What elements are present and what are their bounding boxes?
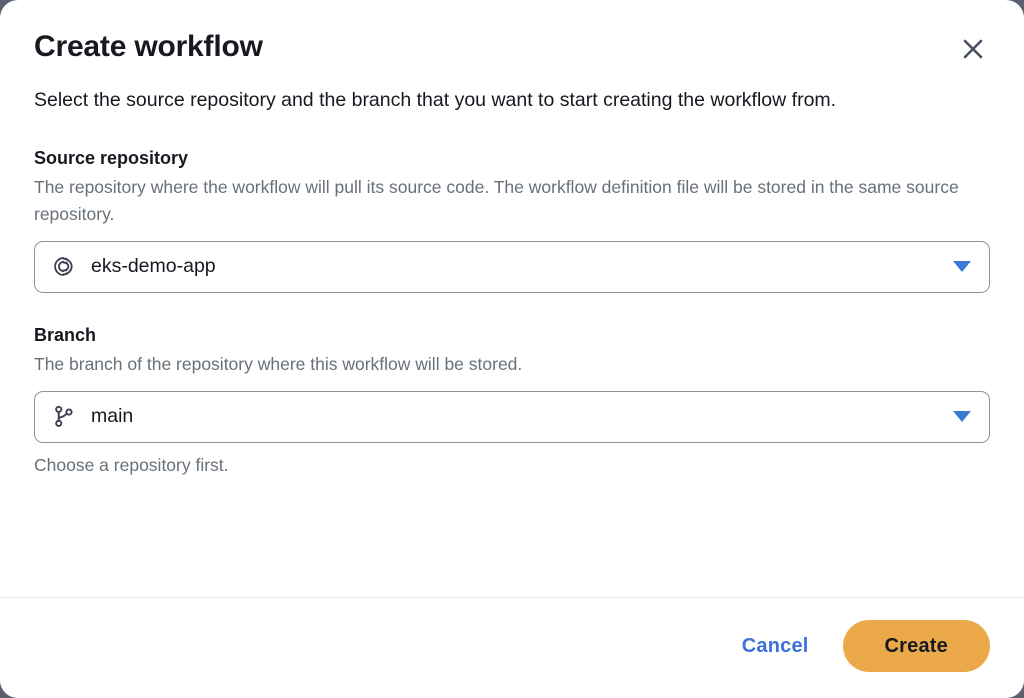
dialog-intro-text: Select the source repository and the bra… xyxy=(34,85,914,117)
dialog-header: Create workflow xyxy=(0,0,1024,63)
branch-label: Branch xyxy=(34,323,990,347)
branch-select[interactable]: main xyxy=(34,391,990,443)
dialog-footer: Cancel Create xyxy=(0,597,1024,698)
chevron-down-icon xyxy=(951,256,973,278)
git-branch-icon xyxy=(51,404,77,430)
source-repository-select[interactable]: eks-demo-app xyxy=(34,241,990,293)
chevron-down-icon xyxy=(951,406,973,428)
source-repository-field-group: Source repository The repository where t… xyxy=(34,146,990,293)
page-title: Create workflow xyxy=(34,30,990,63)
cancel-button[interactable]: Cancel xyxy=(730,627,821,666)
create-button[interactable]: Create xyxy=(843,620,990,672)
branch-value: main xyxy=(91,407,941,427)
source-repository-icon xyxy=(51,254,77,280)
create-workflow-dialog: Create workflow Select the source reposi… xyxy=(0,0,1024,698)
dialog-body: Select the source repository and the bra… xyxy=(0,63,1024,597)
source-repository-value: eks-demo-app xyxy=(91,257,941,277)
source-repository-label: Source repository xyxy=(34,146,990,170)
close-icon xyxy=(961,37,985,61)
source-repository-description: The repository where the workflow will p… xyxy=(34,174,990,229)
branch-field-group: Branch The branch of the repository wher… xyxy=(34,323,990,478)
branch-description: The branch of the repository where this … xyxy=(34,351,990,378)
branch-hint: Choose a repository first. xyxy=(34,452,990,478)
close-button[interactable] xyxy=(956,32,990,66)
